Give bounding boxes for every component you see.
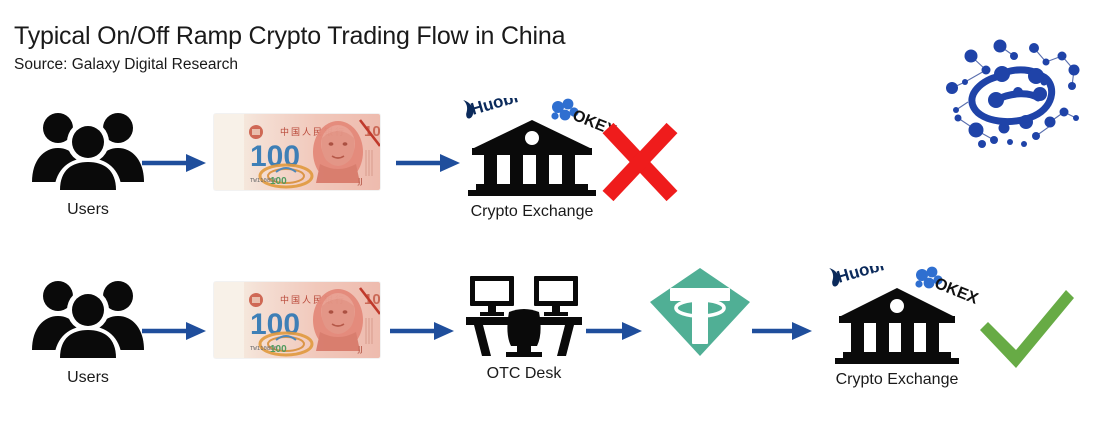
arrow-tether-to-exchange: [752, 320, 812, 346]
tether-usdt-icon: [648, 266, 752, 358]
arrow-users-to-cash: [142, 152, 206, 178]
flow-row-on-ramp-blocked: Users: [0, 104, 1100, 254]
status-badge-check: [972, 284, 1078, 383]
svg-text:JJ: JJ: [357, 345, 363, 354]
cross-icon: [598, 120, 682, 204]
svg-text:100: 100: [250, 140, 300, 173]
node-cny-banknote[interactable]: 中国人民银行 100: [212, 272, 382, 422]
flow-row-otc-ramp-allowed: Users 中国人民银行 100: [0, 272, 1100, 422]
node-label-users: Users: [8, 370, 168, 386]
svg-text:100: 100: [250, 308, 300, 341]
node-tether[interactable]: [644, 272, 756, 422]
node-cny-banknote[interactable]: 中国人民银行 100: [212, 104, 382, 254]
page-title: Typical On/Off Ramp Crypto Trading Flow …: [14, 22, 814, 51]
svg-text:Huobi: Huobi: [469, 98, 521, 119]
svg-text:100: 100: [270, 344, 287, 355]
svg-text:JJ: JJ: [357, 177, 363, 186]
node-crypto-exchange[interactable]: Huobi OKEX: [812, 272, 982, 422]
okex-logo: OKEX: [915, 267, 980, 308]
otc-desk-icon: [464, 274, 584, 358]
svg-text:Huobi: Huobi: [835, 266, 887, 287]
node-crypto-exchange[interactable]: Huobi OKEX: [442, 104, 622, 254]
node-users[interactable]: Users: [8, 272, 168, 422]
cny-100-note-icon: 中国人民银行 100: [214, 282, 380, 358]
status-badge-cross: [598, 120, 682, 209]
node-otc-desk[interactable]: OTC Desk: [452, 272, 596, 422]
huobi-logo: Huobi: [828, 266, 886, 289]
check-icon: [972, 284, 1078, 378]
bank-building-icon: Huobi OKEX: [812, 266, 982, 364]
node-label-crypto-exchange: Crypto Exchange: [442, 204, 622, 220]
node-label-crypto-exchange: Crypto Exchange: [812, 372, 982, 388]
cny-100-note-icon: 中国人民银行 100: [214, 114, 380, 190]
diagram-header: Typical On/Off Ramp Crypto Trading Flow …: [14, 22, 814, 74]
node-label-users: Users: [8, 202, 168, 218]
bank-building-icon: Huobi OKEX: [442, 98, 622, 196]
node-label-otc-desk: OTC Desk: [452, 366, 596, 382]
arrow-cash-to-otc: [390, 320, 454, 346]
svg-text:100: 100: [270, 176, 287, 187]
arrow-otc-to-tether: [586, 320, 642, 346]
node-users[interactable]: Users: [8, 104, 168, 254]
source-subtitle: Source: Galaxy Digital Research: [14, 56, 814, 75]
huobi-logo: Huobi: [462, 98, 520, 121]
arrow-users-to-cash: [142, 320, 206, 346]
